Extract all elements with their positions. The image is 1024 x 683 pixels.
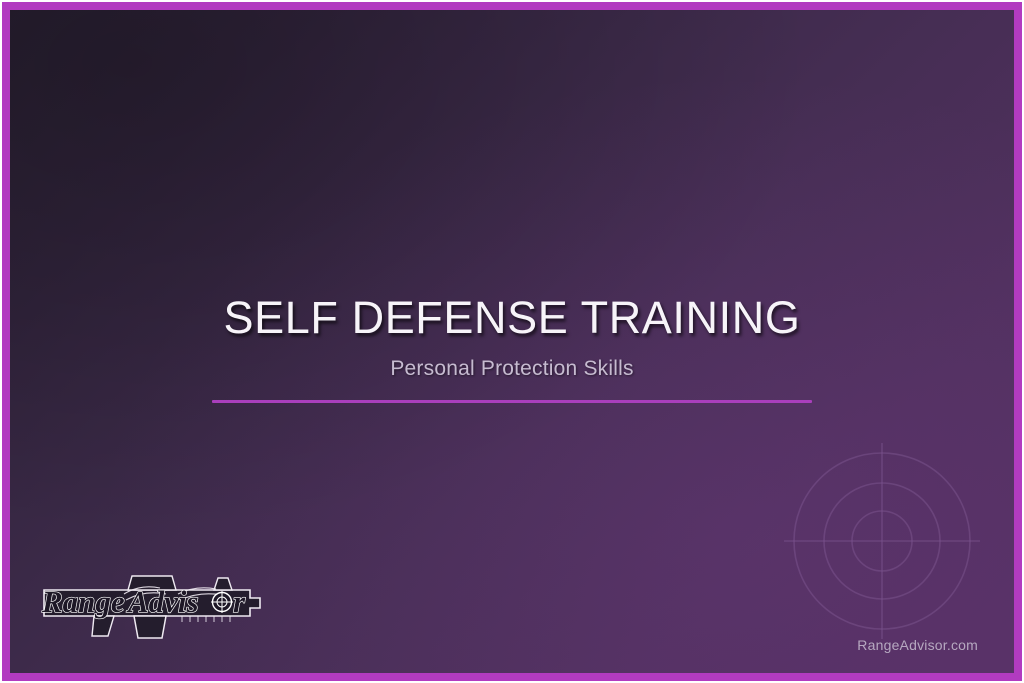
- page-title: SELF DEFENSE TRAINING: [10, 294, 1014, 343]
- slide-background: SELF DEFENSE TRAINING Personal Protectio…: [10, 10, 1014, 673]
- brand-logo[interactable]: Range Advis r: [36, 564, 268, 640]
- slide-frame: SELF DEFENSE TRAINING Personal Protectio…: [2, 2, 1022, 681]
- page-subtitle: Personal Protection Skills: [10, 357, 1014, 381]
- brand-wordmark-part-two: Advis: [126, 584, 199, 619]
- brand-wordmark-part-three: r: [233, 584, 246, 619]
- title-divider: [212, 400, 812, 403]
- brand-wordmark-part-one: Range: [41, 584, 125, 619]
- footer-url: RangeAdvisor.com: [857, 637, 978, 653]
- title-block: SELF DEFENSE TRAINING Personal Protectio…: [10, 294, 1014, 403]
- slide-root: SELF DEFENSE TRAINING Personal Protectio…: [0, 0, 1024, 683]
- crosshair-target-icon: [772, 431, 992, 651]
